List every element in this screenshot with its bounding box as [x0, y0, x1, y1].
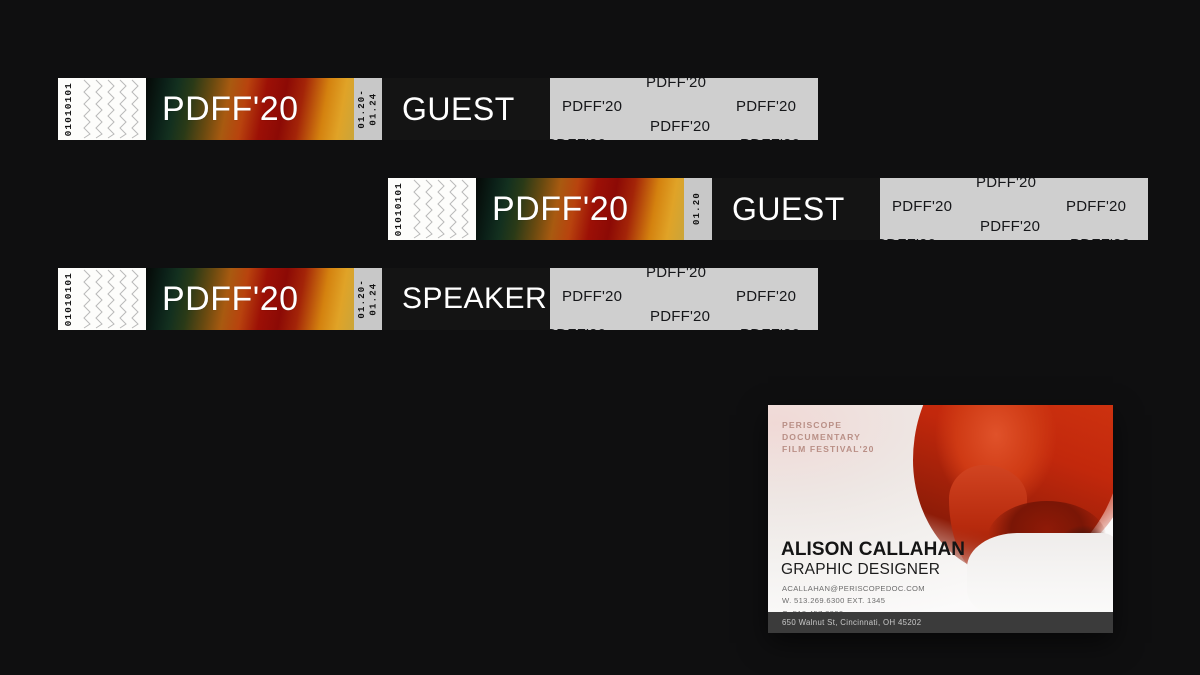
badge-gradient-panel: PDFF'20	[146, 268, 354, 330]
lanyard-wordmark: PDFF'20	[562, 98, 622, 115]
badge-date-text: 01.20- 01.24	[357, 279, 380, 319]
card-paper-highlight	[967, 533, 1113, 619]
card-brand-block: PERISCOPE DOCUMENTARY FILM FESTIVAL'20	[782, 419, 875, 456]
badge-gradient-panel: PDFF'20	[476, 178, 684, 240]
badge-role-panel: GUEST	[382, 78, 550, 140]
canvas: 01010101 PDFF'20 01.20- 01.24 GUEST PDFF…	[0, 0, 1200, 675]
lanyard-wordmark: PDFF'20	[1070, 236, 1130, 240]
zigzag-pattern-icon	[80, 78, 146, 140]
badge-lanyard: PDFF'20 PDFF'20 PDFF'20 PDFF'20 PDFF'20 …	[550, 268, 818, 330]
lanyard-wordmark: PDFF'20	[650, 118, 710, 135]
card-work-phone[interactable]: W. 513.269.6300 EXT. 1345	[782, 595, 925, 607]
badge-lanyard: PDFF'20 PDFF'20 PDFF'20 PDFF'20 PDFF'20 …	[880, 178, 1148, 240]
badge-date-text: 01.20	[692, 192, 703, 225]
badge-wordmark: PDFF'20	[146, 90, 299, 129]
lanyard-wordmark: PDFF'20	[740, 136, 800, 140]
lanyard-wordmark: PDFF'20	[550, 326, 606, 330]
lanyard-wordmark: PDFF'20	[1066, 198, 1126, 215]
lanyard-wordmark: PDFF'20	[646, 268, 706, 281]
badge-date-tab: 01.20- 01.24	[354, 268, 382, 330]
lanyard-wordmark: PDFF'20	[550, 136, 606, 140]
card-brand-line-1: PERISCOPE	[782, 419, 875, 431]
badge-lanyard: PDFF'20 PDFF'20 PDFF'20 PDFF'20 PDFF'20 …	[550, 78, 818, 140]
badge-gradient-panel: PDFF'20	[146, 78, 354, 140]
badge-guest-1[interactable]: 01010101 PDFF'20 01.20- 01.24 GUEST PDFF…	[58, 78, 818, 140]
lanyard-wordmark: PDFF'20	[976, 178, 1036, 191]
business-card[interactable]: PERISCOPE DOCUMENTARY FILM FESTIVAL'20 A…	[768, 405, 1113, 633]
lanyard-wordmark: PDFF'20	[880, 236, 936, 240]
badge-role-panel: SPEAKER	[382, 268, 550, 330]
badge-stub: 01010101	[58, 78, 146, 140]
badge-wordmark: PDFF'20	[476, 190, 629, 229]
badge-role-label: GUEST	[732, 191, 845, 228]
lanyard-wordmark: PDFF'20	[736, 288, 796, 305]
badge-guest-2[interactable]: 01010101 PDFF'20 01.20 GUEST PDFF'20 PDF…	[388, 178, 1148, 240]
card-email[interactable]: ACALLAHAN@PERISCOPEDOC.COM	[782, 583, 925, 595]
badge-role-panel: GUEST	[712, 178, 880, 240]
badge-role-label: GUEST	[402, 91, 515, 128]
badge-date-text: 01.20- 01.24	[357, 89, 380, 129]
badge-stub: 01010101	[388, 178, 476, 240]
zigzag-pattern-icon	[80, 268, 146, 330]
lanyard-wordmark: PDFF'20	[562, 288, 622, 305]
card-address: 650 Walnut St, Cincinnati, OH 45202	[782, 618, 921, 627]
lanyard-wordmark: PDFF'20	[736, 98, 796, 115]
card-brand-line-3: FILM FESTIVAL'20	[782, 443, 875, 455]
lanyard-wordmark: PDFF'20	[646, 78, 706, 91]
badge-role-label: SPEAKER	[402, 282, 547, 316]
badge-date-tab: 01.20	[684, 178, 712, 240]
card-address-bar: 650 Walnut St, Cincinnati, OH 45202	[768, 612, 1113, 633]
lanyard-wordmark: PDFF'20	[892, 198, 952, 215]
badge-date-tab: 01.20- 01.24	[354, 78, 382, 140]
stub-binary-code: 01010101	[64, 82, 74, 136]
card-person-title: GRAPHIC DESIGNER	[781, 561, 940, 579]
zigzag-pattern-icon	[410, 178, 476, 240]
stub-binary-code: 01010101	[64, 272, 74, 326]
badge-speaker[interactable]: 01010101 PDFF'20 01.20- 01.24 SPEAKER PD…	[58, 268, 818, 330]
lanyard-wordmark: PDFF'20	[980, 218, 1040, 235]
card-person-name: ALISON CALLAHAN	[781, 539, 965, 561]
card-brand-line-2: DOCUMENTARY	[782, 431, 875, 443]
lanyard-wordmark: PDFF'20	[740, 326, 800, 330]
badge-wordmark: PDFF'20	[146, 280, 299, 319]
badge-stub: 01010101	[58, 268, 146, 330]
lanyard-wordmark: PDFF'20	[650, 308, 710, 325]
stub-binary-code: 01010101	[394, 182, 404, 236]
